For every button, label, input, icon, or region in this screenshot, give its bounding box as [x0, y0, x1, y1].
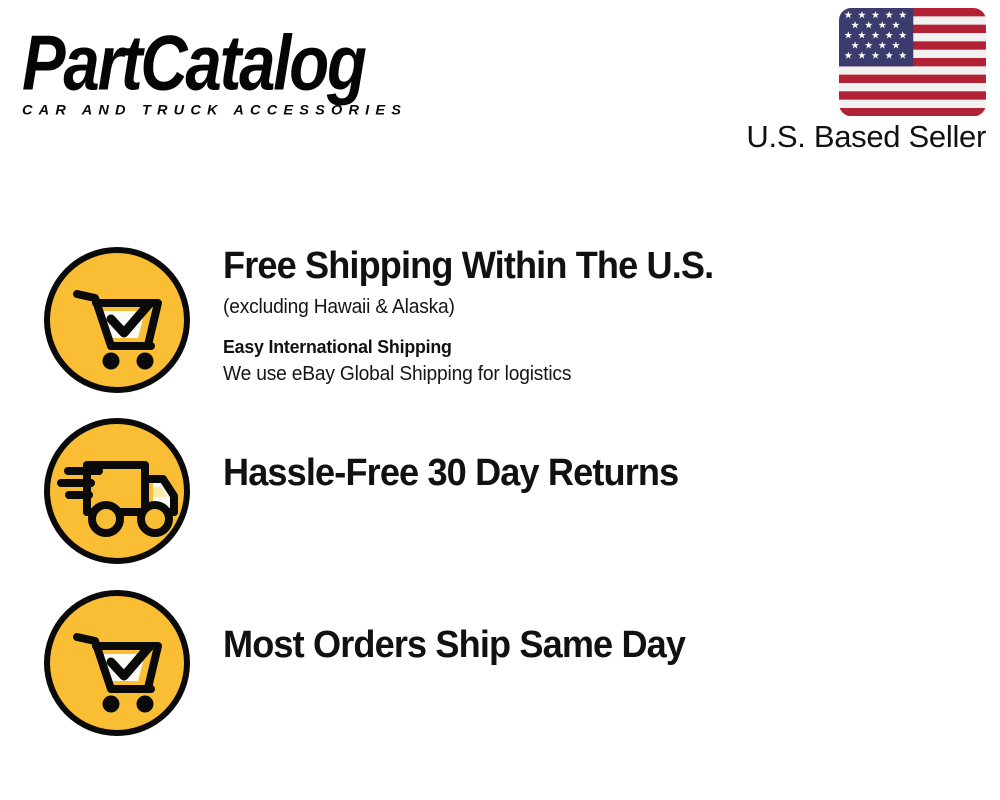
brand-wordmark: PartCatalog — [22, 22, 487, 102]
feature-item: Most Orders Ship Same Day — [0, 587, 1000, 739]
feature-item: Hassle-Free 30 Day Returns — [0, 415, 1000, 567]
feature-title: Hassle-Free 30 Day Returns — [223, 451, 961, 496]
brand-tagline: CAR AND TRUCK ACCESSORIES — [22, 103, 492, 118]
us-based-seller-badge: U.S. Based Seller — [716, 8, 986, 155]
brand-logo[interactable]: PartCatalog CAR AND TRUCK ACCESSORIES — [22, 22, 492, 119]
feature-sub-note: We use eBay Global Shipping for logistic… — [223, 361, 969, 388]
feature-title: Most Orders Ship Same Day — [223, 623, 961, 668]
feature-title: Free Shipping Within The U.S. — [223, 244, 961, 289]
feature-item: Free Shipping Within The U.S. (excluding… — [0, 244, 1000, 396]
shopping-cart-check-icon — [41, 244, 193, 396]
feature-text: Most Orders Ship Same Day — [223, 587, 1000, 668]
feature-text: Hassle-Free 30 Day Returns — [223, 415, 1000, 496]
feature-note: (excluding Hawaii & Alaska) — [223, 294, 969, 320]
delivery-truck-icon — [41, 415, 193, 567]
us-based-seller-label: U.S. Based Seller — [746, 119, 986, 155]
shopping-cart-check-icon — [41, 587, 193, 739]
us-flag-icon — [839, 8, 986, 115]
feature-sub-title: Easy International Shipping — [223, 334, 969, 359]
feature-text: Free Shipping Within The U.S. (excluding… — [223, 244, 1000, 388]
page-header: PartCatalog CAR AND TRUCK ACCESSORIES — [0, 0, 1000, 170]
